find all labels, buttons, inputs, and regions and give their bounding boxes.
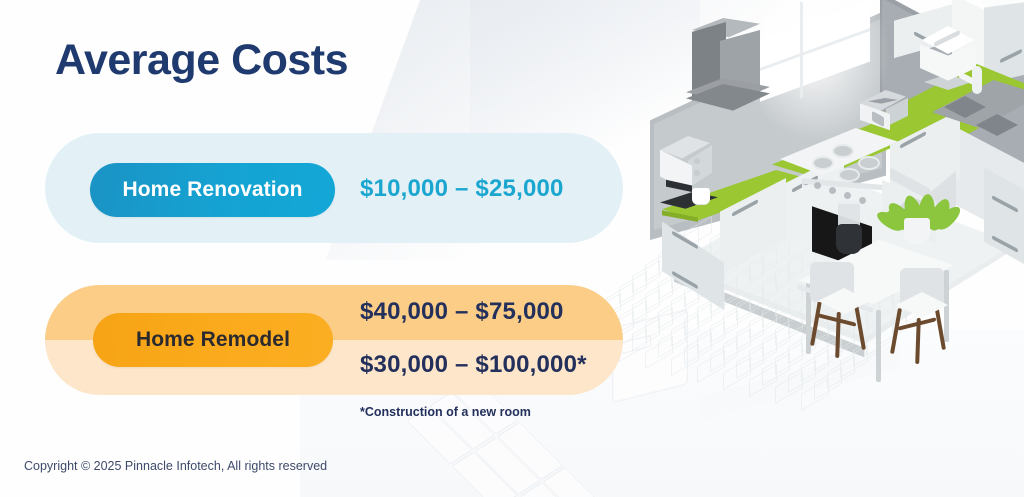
coffee-machine-button-1 bbox=[694, 158, 700, 164]
stove-knob-3 bbox=[844, 192, 851, 199]
coffee-machine-button-2 bbox=[694, 170, 700, 176]
ghost-grid-cell bbox=[475, 437, 541, 495]
plant-pot bbox=[904, 218, 930, 244]
copyright-text: Copyright © 2025 Pinnacle Infotech, All … bbox=[24, 459, 327, 473]
stove-burner-3 bbox=[834, 146, 852, 156]
blender-base bbox=[836, 224, 862, 254]
price-home-renovation: $10,000 – $25,000 bbox=[360, 175, 564, 203]
stove-burner-4 bbox=[860, 158, 878, 168]
stove-burner-1 bbox=[814, 158, 832, 168]
ghost-grid-cell bbox=[497, 422, 563, 480]
stove-knob-1 bbox=[814, 182, 821, 189]
slide-canvas: Average Costs Home Renovation $10,000 – … bbox=[0, 0, 1024, 497]
coffee-cup bbox=[692, 188, 710, 204]
page-title: Average Costs bbox=[55, 38, 348, 83]
ghost-grid-cell bbox=[543, 467, 609, 497]
isometric-kitchen-illustration bbox=[632, 0, 1024, 412]
ghost-grid-cell bbox=[452, 452, 518, 497]
footnote: *Construction of a new room bbox=[360, 405, 531, 419]
price-home-remodel-secondary: $30,000 – $100,000* bbox=[360, 351, 587, 379]
ghost-grid-cell bbox=[429, 392, 495, 450]
window-mullion-vertical bbox=[800, 1, 803, 98]
ghost-grid-cell bbox=[520, 482, 586, 497]
label-pill-home-remodel[interactable]: Home Remodel bbox=[93, 313, 333, 367]
table-leg-front bbox=[876, 310, 881, 382]
stove-knob-4 bbox=[859, 197, 866, 204]
faucet bbox=[972, 66, 982, 94]
stove-knob-2 bbox=[829, 187, 836, 194]
label-pill-home-renovation[interactable]: Home Renovation bbox=[90, 163, 335, 217]
price-home-remodel-primary: $40,000 – $75,000 bbox=[360, 298, 564, 326]
stove-burner-2 bbox=[840, 170, 858, 180]
